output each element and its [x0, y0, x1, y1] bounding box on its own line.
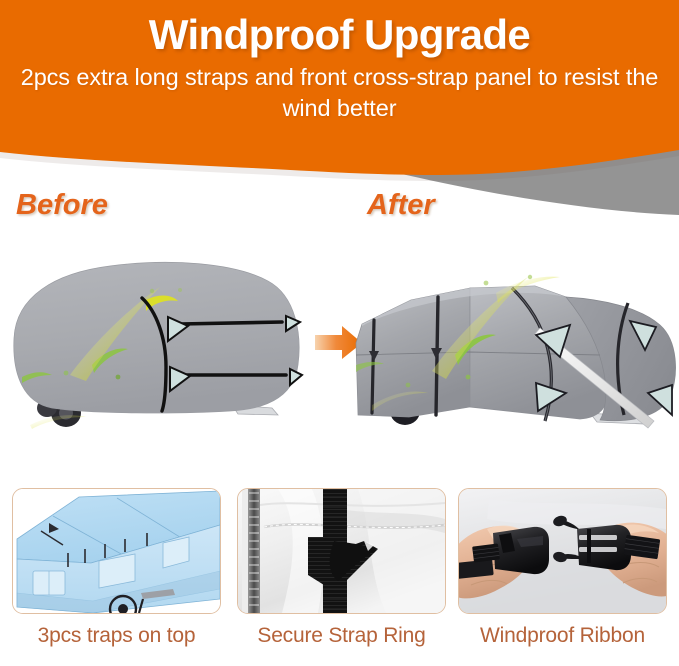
feature-image-frame-2 [458, 488, 667, 614]
feature-caption-0: 3pcs traps on top [12, 614, 221, 648]
feature-item-0: 3pcs traps on top [12, 488, 221, 648]
after-rv-cover [356, 275, 676, 475]
feature-caption-2: Windproof Ribbon [458, 614, 667, 648]
after-label: After [367, 189, 435, 222]
comparison-illustration [0, 225, 679, 475]
product-infographic: Windproof Upgrade 2pcs extra long straps… [0, 0, 679, 666]
buckle-in-hands-photo [459, 489, 666, 613]
feature-caption-1: Secure Strap Ring [237, 614, 446, 648]
arrow-right-icon [315, 326, 362, 359]
orange-banner-shape [0, 0, 679, 175]
feature-image-frame-0 [12, 488, 221, 614]
before-after-comparison [0, 225, 679, 475]
before-label: Before [16, 189, 108, 222]
feature-image-frame-1 [237, 488, 446, 614]
feature-item-2: Windproof Ribbon [458, 488, 667, 648]
feature-item-1: Secure Strap Ring [237, 488, 446, 648]
strap-ring-photo [238, 489, 445, 613]
rv-top-straps-diagram [13, 489, 220, 613]
before-rv-cover [14, 262, 302, 429]
feature-thumbnails-row: 3pcs traps on top [0, 488, 679, 666]
